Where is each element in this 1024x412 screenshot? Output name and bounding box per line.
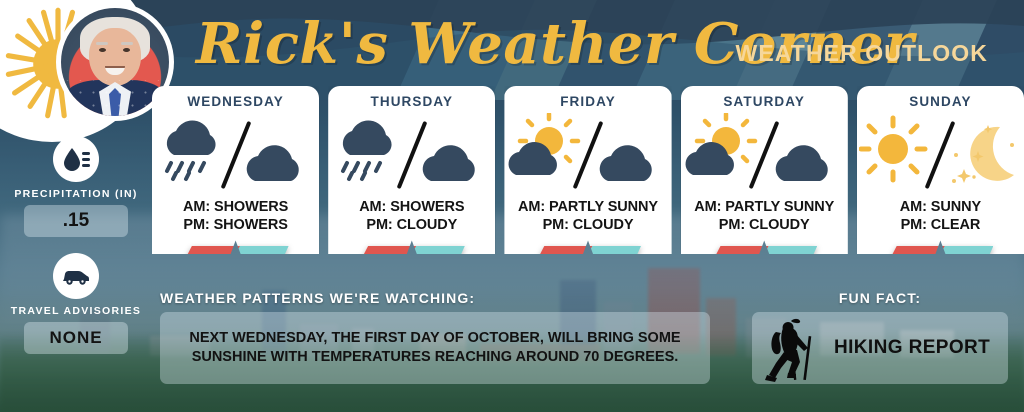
day-label: WEDNESDAY	[152, 86, 319, 109]
condition-pm: PM: CLOUDY	[681, 217, 848, 233]
weather-patterns-body: NEXT WEDNESDAY, THE FIRST DAY OF OCTOBER…	[174, 329, 696, 366]
condition-pm: PM: SHOWERS	[152, 217, 319, 233]
forecast-card-sunday[interactable]: SUNDAY	[857, 86, 1024, 254]
fun-fact-box[interactable]: HIKING REPORT	[752, 312, 1008, 384]
cloud-icon	[770, 133, 846, 193]
rain-cloud-icon	[156, 113, 232, 189]
travel-advisories-block: TRAVEL ADVISORIES NONE	[0, 253, 152, 354]
day-label: THURSDAY	[328, 86, 495, 109]
icon-row	[681, 111, 848, 197]
condition-am: AM: SHOWERS	[152, 199, 319, 215]
condition-am: AM: PARTLY SUNNY	[681, 199, 848, 215]
day-label: SATURDAY	[681, 86, 848, 109]
condition-pm: PM: CLOUDY	[504, 217, 671, 233]
precipitation-value: .15	[24, 205, 128, 237]
icon-row	[857, 111, 1024, 197]
hiker-icon	[758, 312, 830, 384]
fun-fact-panel: FUN FACT: HIKING REPORT	[752, 290, 1008, 384]
forecast-card-friday[interactable]: FRIDAY	[504, 86, 671, 254]
day-label: FRIDAY	[504, 86, 671, 109]
travel-advisories-value: NONE	[24, 322, 128, 354]
weather-graphic: Rick's Weather Corner WEATHER OUTLOOK PR…	[0, 0, 1024, 412]
condition-pm: PM: CLOUDY	[328, 217, 495, 233]
page-title: Rick's Weather Corner	[196, 16, 666, 72]
outlook-label: WEATHER OUTLOOK	[736, 40, 988, 67]
day-label: SUNDAY	[857, 86, 1024, 109]
sidebar: PRECIPITATION (IN) .15 TRAVEL ADVISORIES…	[0, 136, 152, 354]
crescent-moon-stars-icon	[944, 111, 1024, 187]
sun-icon	[859, 115, 937, 189]
condition-am: AM: SHOWERS	[328, 199, 495, 215]
forecast-card-thursday[interactable]: THURSDAY AM:	[328, 86, 495, 254]
icon-row	[152, 111, 319, 197]
weather-patterns-heading: WEATHER PATTERNS WE'RE WATCHING:	[160, 290, 710, 306]
rain-cloud-icon	[332, 113, 408, 189]
raindrop-icon	[53, 136, 99, 182]
icon-row	[504, 111, 671, 197]
cloud-icon	[594, 133, 670, 193]
forecast-card-saturday[interactable]: SATURDAY	[681, 86, 848, 254]
precipitation-label: PRECIPITATION (IN)	[0, 188, 152, 200]
icon-row	[328, 111, 495, 197]
weather-patterns-box: NEXT WEDNESDAY, THE FIRST DAY OF OCTOBER…	[160, 312, 710, 384]
forecast-row: WEDNESDAY AM:	[152, 86, 1024, 271]
car-icon	[53, 253, 99, 299]
condition-am: AM: PARTLY SUNNY	[504, 199, 671, 215]
travel-advisories-label: TRAVEL ADVISORIES	[0, 305, 152, 317]
forecast-card-wednesday[interactable]: WEDNESDAY AM:	[152, 86, 319, 254]
cloud-icon	[241, 133, 317, 193]
condition-pm: PM: CLEAR	[857, 217, 1024, 233]
cloud-icon	[417, 133, 493, 193]
fun-fact-heading: FUN FACT:	[752, 290, 1008, 306]
precipitation-block: PRECIPITATION (IN) .15	[0, 136, 152, 237]
hiking-report-label: HIKING REPORT	[834, 337, 990, 359]
condition-am: AM: SUNNY	[857, 199, 1024, 215]
weather-patterns-panel: WEATHER PATTERNS WE'RE WATCHING: NEXT WE…	[160, 290, 710, 384]
